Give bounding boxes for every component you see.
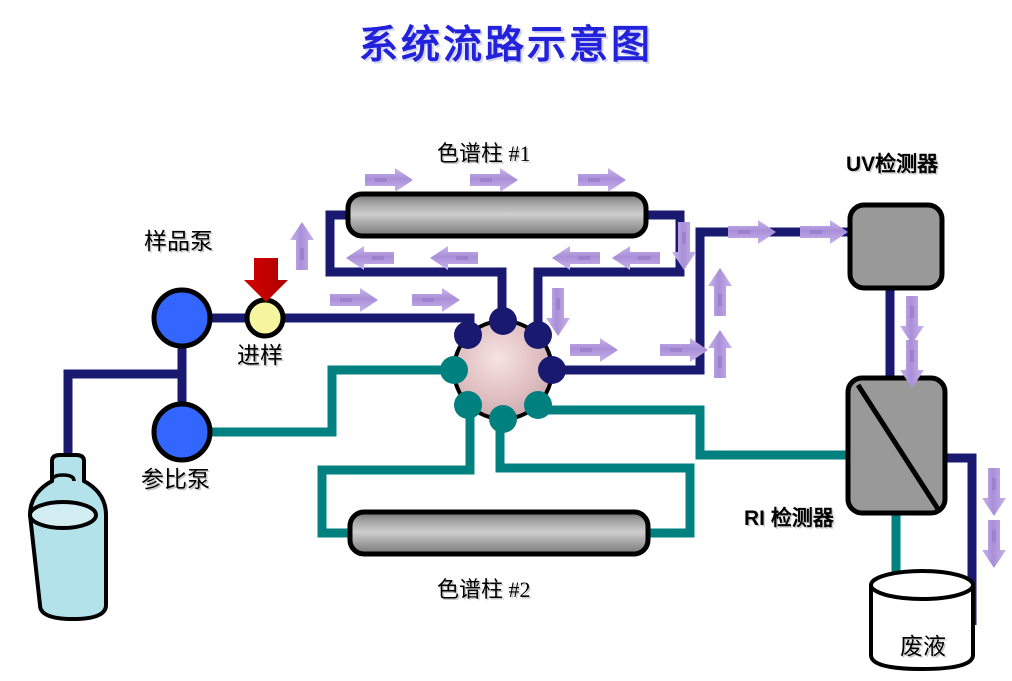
column-2[interactable] bbox=[350, 512, 648, 554]
solvent-reservoir bbox=[30, 455, 106, 619]
valve-port-teal-lower-left bbox=[454, 391, 482, 419]
waste-label: 废液 bbox=[900, 627, 946, 661]
sample-pump-label: 样品泵 bbox=[144, 222, 213, 256]
column-1[interactable] bbox=[348, 194, 646, 236]
ri-detector-label: RI 检测器 bbox=[744, 502, 834, 532]
uv-detector[interactable] bbox=[850, 205, 942, 288]
column-2-label: 色谱柱 #2 bbox=[437, 572, 531, 604]
reference-flow-piping bbox=[208, 370, 896, 625]
valve-port-teal-left bbox=[440, 356, 468, 384]
injector-label: 进样 bbox=[237, 336, 283, 370]
sample-pump[interactable] bbox=[154, 290, 210, 346]
column-1-label: 色谱柱 #1 bbox=[437, 136, 531, 168]
diagram-canvas: 系统流路示意图 bbox=[0, 0, 1012, 681]
valve-port-teal-lower-right bbox=[524, 391, 552, 419]
ri-detector[interactable] bbox=[848, 378, 945, 513]
reference-pump-label: 参比泵 bbox=[141, 460, 210, 494]
rotary-valve[interactable] bbox=[440, 307, 566, 433]
reference-pump[interactable] bbox=[154, 404, 210, 460]
injection-arrow-icon bbox=[244, 258, 288, 302]
valve-port-teal-bottom bbox=[489, 405, 517, 433]
valve-port-navy-right bbox=[538, 356, 566, 384]
injector-valve[interactable] bbox=[247, 300, 283, 336]
valve-port-navy-upper-left bbox=[454, 321, 482, 349]
valve-port-navy-upper-right bbox=[524, 321, 552, 349]
valve-port-navy-top bbox=[489, 307, 517, 335]
uv-detector-label: UV检测器 bbox=[846, 148, 938, 178]
